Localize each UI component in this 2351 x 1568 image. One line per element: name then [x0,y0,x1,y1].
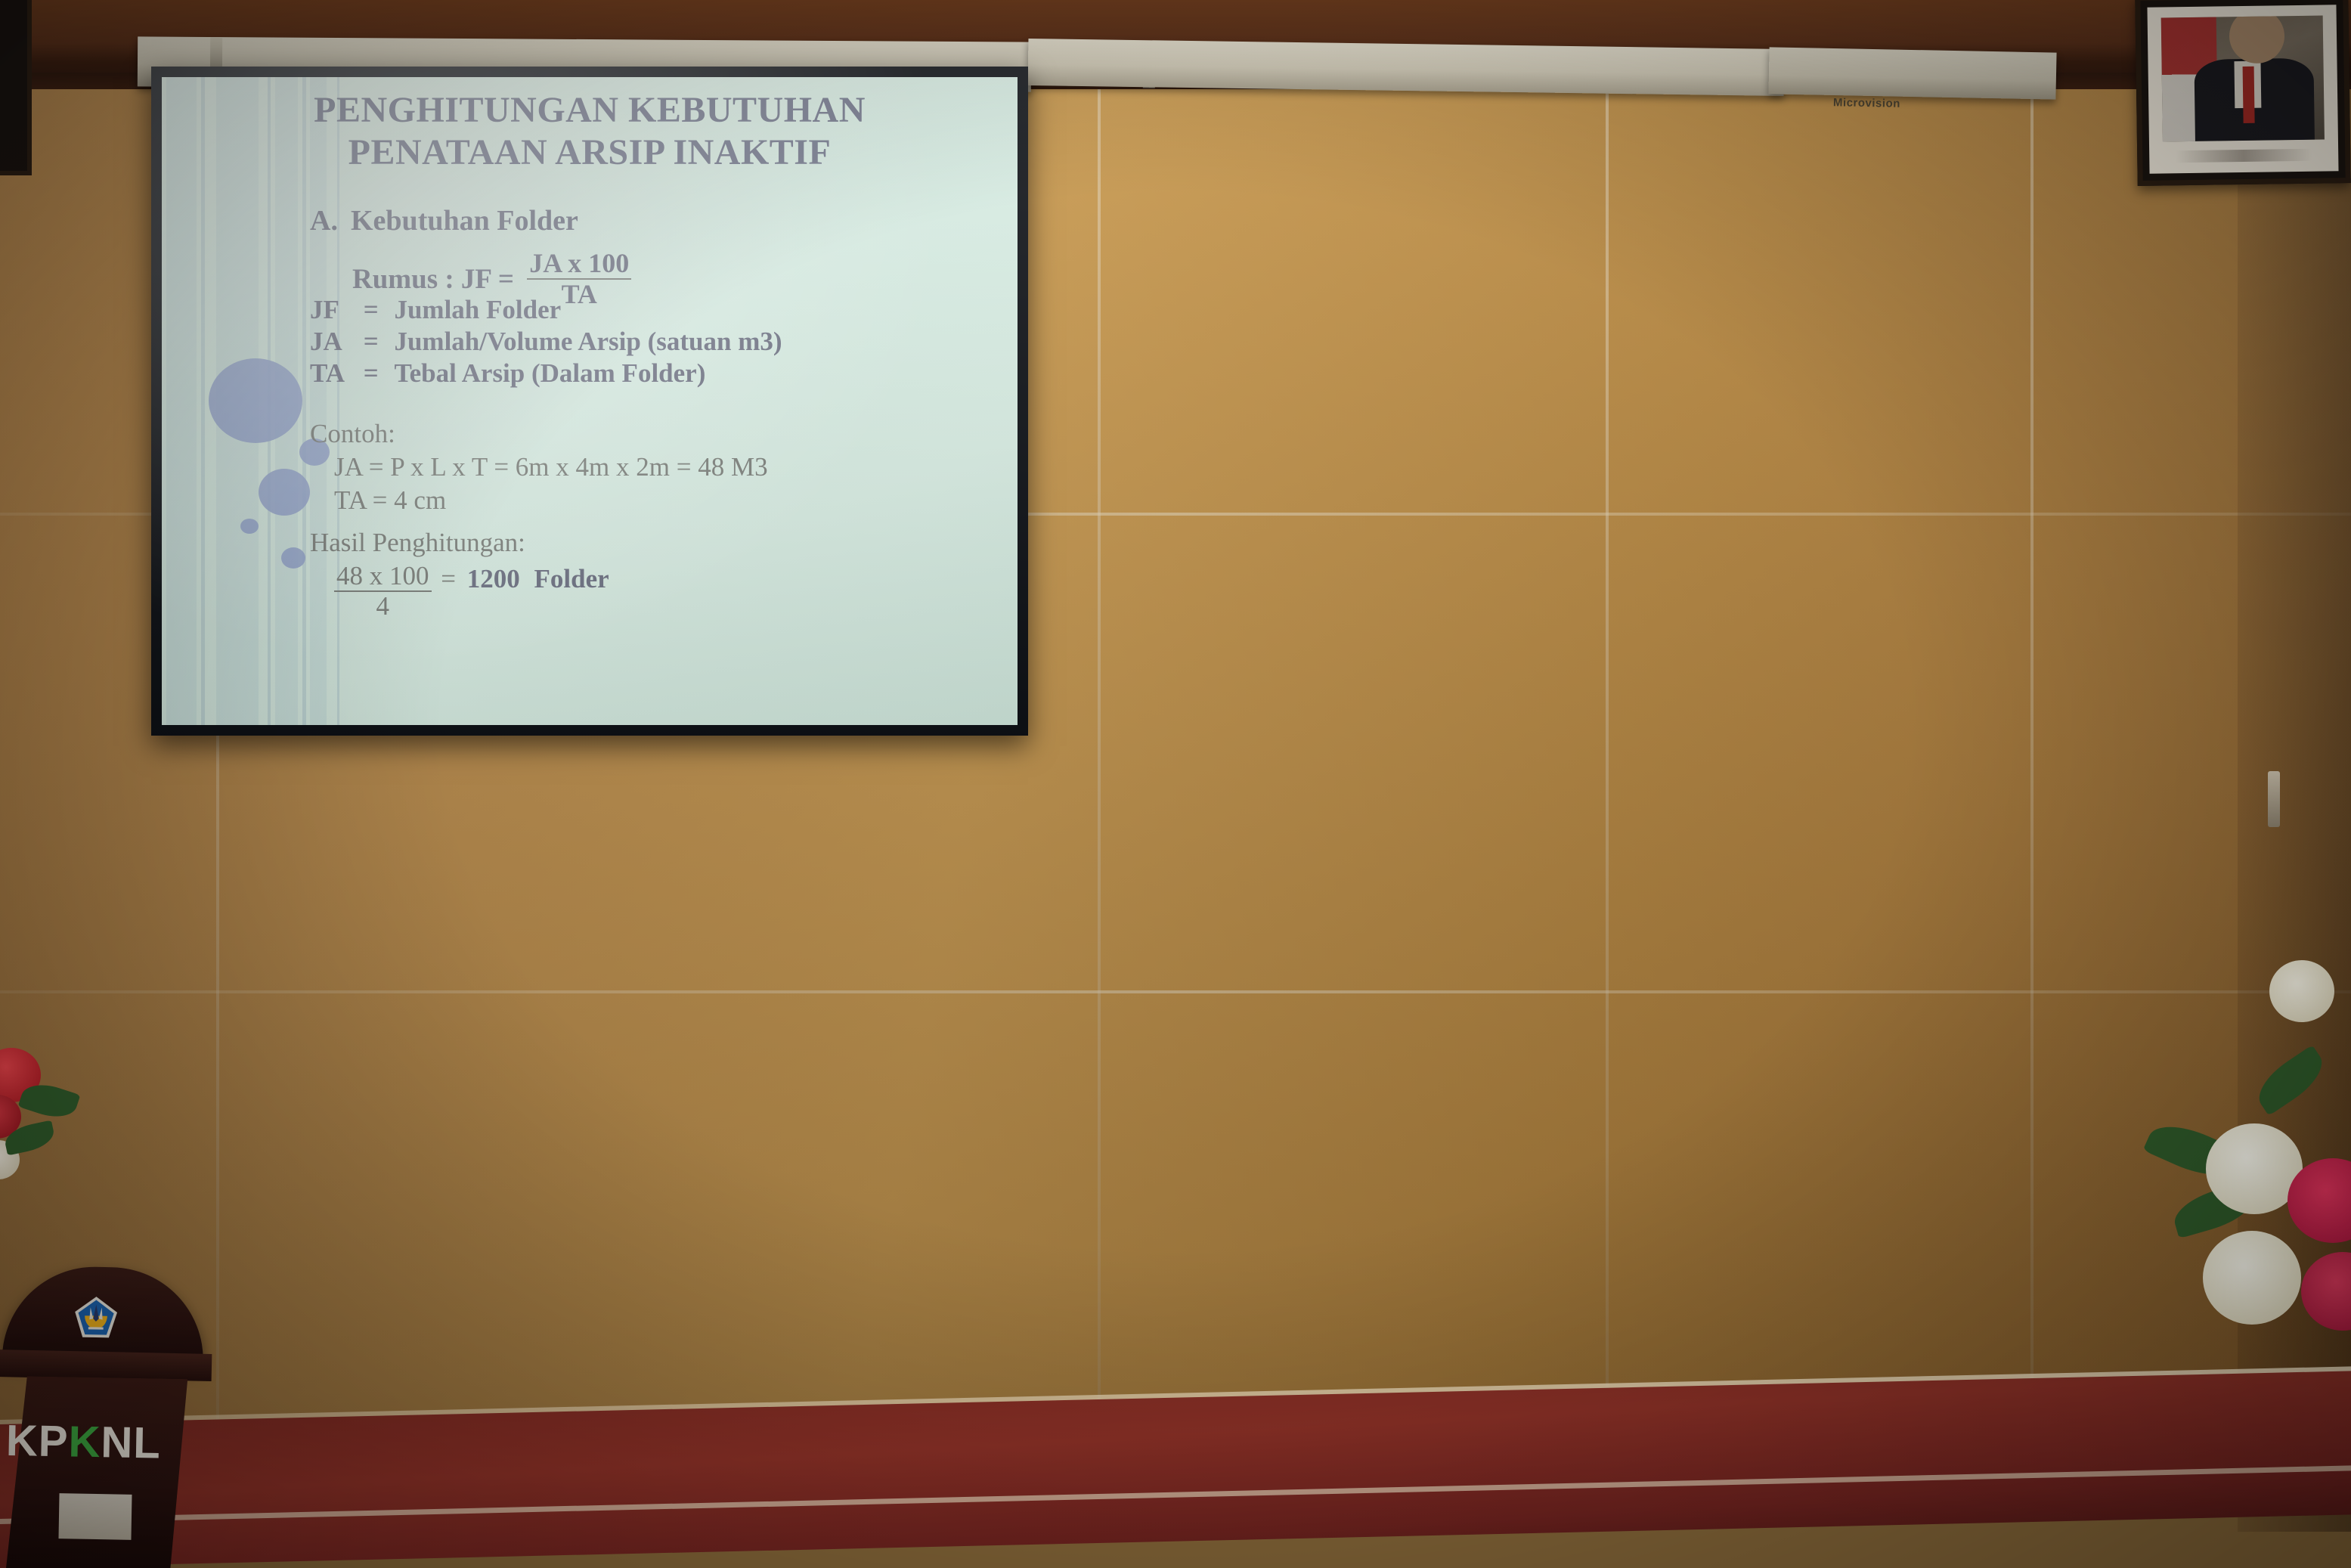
presentation-slide: PENGHITUNGAN KEBUTUHAN PENATAAN ARSIP IN… [162,77,1018,725]
definition-meaning: Jumlah/Volume Arsip (satuan m3) [394,327,782,356]
slide-stripe [201,77,205,725]
definition-equals: = [364,327,379,356]
slide-stripe [310,77,327,725]
portrait-tie [2243,66,2255,123]
flower-pink [2301,1252,2351,1331]
result-numerator: 48 x 100 [334,562,432,592]
result-equals: = [441,564,456,594]
wall-grout-line [1098,89,1101,1442]
flower-arrangement-right [2139,950,2351,1373]
example-line-ja: JA = P x L x T = 6m x 4m x 2m = 48 M3 [334,452,768,482]
definition-symbol: TA [310,358,357,389]
result-value: 1200 [467,564,520,594]
example-line-ta: TA = 4 cm [334,485,446,516]
portrait-mat [2147,5,2338,173]
flower-white [2269,960,2334,1022]
podium-label: KPKNL [5,1415,187,1469]
definition-equals: = [364,295,379,324]
formula-label: Rumus : JF = [352,263,514,296]
projection-screen: PENGHITUNGAN KEBUTUHAN PENATAAN ARSIP IN… [151,67,1028,736]
definition-row: JF = Jumlah Folder [310,295,561,325]
decorative-circle [240,519,259,534]
flower-arrangement-left [0,1040,113,1290]
wall-grout-line [2030,89,2034,1442]
result-unit: Folder [534,564,609,594]
wall-fixture [2268,771,2280,827]
screen-brand-label: Microvision [1833,96,1900,110]
definition-symbol: JA [310,327,357,357]
section-heading: Kebutuhan Folder [351,204,578,237]
portrait-caption [2176,149,2312,163]
ministry-emblem-icon [72,1294,119,1341]
definition-meaning: Tebal Arsip (Dalam Folder) [394,358,705,388]
flower-white [2203,1231,2301,1325]
example-heading: Contoh: [310,419,395,449]
slide-stripe [337,77,339,725]
definition-meaning: Jumlah Folder [394,295,561,324]
podium-label-text: KPKNL [5,1416,161,1468]
slide-stripe [166,77,197,725]
slide-title-line2: PENATAAN ARSIP INAKTIF [162,132,1018,173]
framed-portrait [2135,0,2350,186]
result-fraction: 48 x 100 4 [334,562,432,621]
section-marker: A. [310,204,338,237]
decorative-circle [281,547,305,569]
wall-grout-line [0,990,2351,993]
slide-title-line1: PENGHITUNGAN KEBUTUHAN [162,89,1018,131]
definition-equals: = [364,358,379,388]
projection-screen-frame: PENGHITUNGAN KEBUTUHAN PENATAAN ARSIP IN… [151,67,1028,736]
decorative-circle [209,358,302,443]
podium-placard [58,1493,132,1540]
result-denominator: 4 [334,592,432,621]
projector-screen-casing-end [1768,47,2056,99]
speaker-podium: KPKNL [0,1267,209,1568]
definition-row: JA = Jumlah/Volume Arsip (satuan m3) [310,327,782,357]
decorative-circle [259,469,310,516]
portrait-photo [2161,16,2325,142]
slide-stripe [302,77,306,725]
result-heading: Hasil Penghitungan: [310,528,525,558]
wall-picture-frame-left [0,0,32,175]
wall-grout-line [1606,89,1609,1442]
result-row: 48 x 100 4 = 1200 Folder [334,562,609,621]
definition-symbol: JF [310,295,357,325]
leaf [2250,1045,2332,1116]
conference-room-scene: Microvision PENGHITUNGAN K [0,0,2351,1568]
definition-row: TA = Tebal Arsip (Dalam Folder) [310,358,705,389]
portrait-face [2229,16,2284,64]
formula-numerator: JA x 100 [527,249,631,280]
